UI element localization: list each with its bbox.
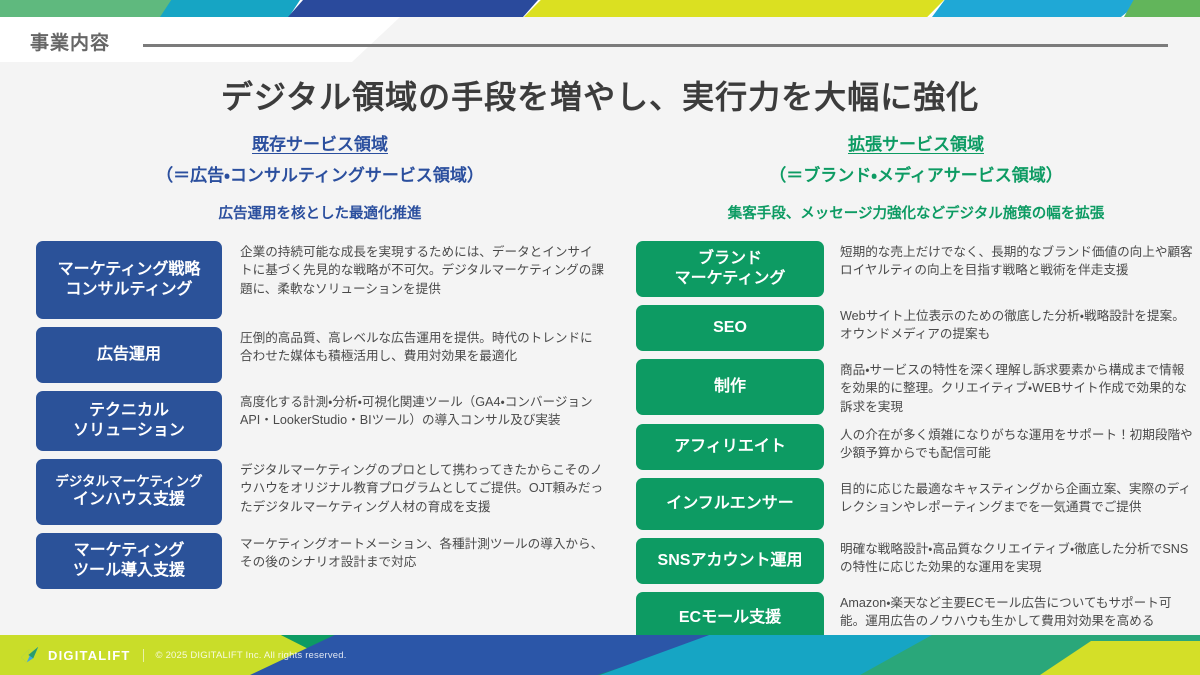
service-row[interactable]: アフィリエイト人の介在が多く煩雑になりがちな運用をサポート！初期段階や少額予算か… bbox=[636, 424, 1196, 470]
column-tagline: 集客手段、メッセージ力強化などデジタル施策の幅を拡張 bbox=[636, 202, 1196, 223]
slide-root: 事業内容 デジタル領域の手段を増やし、実行力を大幅に強化 既存サービス領域 （＝… bbox=[0, 0, 1200, 675]
service-description: マーケティングオートメーション、各種計測ツールの導入から、その後のシナリオ設計ま… bbox=[222, 533, 604, 572]
service-chip-label: 広告運用 bbox=[97, 345, 161, 365]
header-rule bbox=[143, 44, 1168, 47]
service-chip-label: コンサルティング bbox=[65, 280, 192, 300]
service-chip-label: ブランド bbox=[698, 249, 762, 269]
footer-bar: DIGITALIFT © 2025 DIGITALIFT Inc. All ri… bbox=[0, 635, 1200, 675]
page-title: デジタル領域の手段を増やし、実行力を大幅に強化 bbox=[0, 72, 1200, 118]
service-chip-label: ツール導入支援 bbox=[73, 561, 185, 581]
service-chip[interactable]: 広告運用 bbox=[36, 327, 222, 383]
service-chip-label: インハウス支援 bbox=[73, 490, 185, 510]
service-chip-label: マーケティング戦略 bbox=[58, 260, 201, 280]
service-chip[interactable]: テクニカルソリューション bbox=[36, 391, 222, 451]
service-chip-label: ECモール支援 bbox=[679, 608, 781, 628]
copyright-text: © 2025 DIGITALIFT Inc. All rights reserv… bbox=[156, 650, 347, 661]
band-segment-blue bbox=[288, 0, 538, 17]
service-list-expanded: ブランドマーケティング短期的な売上だけでなく、長期的なブランド価値の向上や顧客ロ… bbox=[636, 241, 1196, 644]
service-description: Webサイト上位表示のための徹底した分析・戦略設計を提案。オウンドメディアの提案… bbox=[824, 305, 1196, 344]
band-segment-cyan bbox=[160, 0, 300, 17]
top-decorative-band bbox=[0, 0, 1200, 17]
service-chip-label: ソリューション bbox=[73, 421, 185, 441]
service-description: 人の介在が多く煩雑になりがちな運用をサポート！初期段階や少額予算からでも配信可能 bbox=[824, 424, 1196, 463]
column-heading-block: 既存サービス領域 （＝広告・コンサルティングサービス領域） bbox=[36, 130, 604, 186]
service-chip[interactable]: インフルエンサー bbox=[636, 478, 824, 530]
service-chip-label: テクニカル bbox=[89, 401, 169, 421]
service-description: 目的に応じた最適なキャスティングから企画立案、実際のディレクションやレポーティン… bbox=[824, 478, 1196, 517]
column-tagline: 広告運用を核とした最適化推進 bbox=[36, 202, 604, 223]
service-description: 商品・サービスの特性を深く理解し訴求要素から構成まで情報を効果的に整理。クリエイ… bbox=[824, 359, 1196, 416]
column-heading: 拡張サービス領域 bbox=[848, 130, 984, 155]
service-row[interactable]: マーケティング戦略コンサルティング企業の持続可能な成長を実現するためには、データ… bbox=[36, 241, 604, 319]
service-chip[interactable]: デジタルマーケティングインハウス支援 bbox=[36, 459, 222, 525]
column-subheading: （＝広告・コンサルティングサービス領域） bbox=[36, 161, 604, 186]
service-chip-label: SEO bbox=[713, 318, 747, 338]
service-row[interactable]: マーケティングツール導入支援マーケティングオートメーション、各種計測ツールの導入… bbox=[36, 533, 604, 589]
service-description: Amazon・楽天など主要ECモール広告についてもサポート可能。運用広告のノウハ… bbox=[824, 592, 1196, 631]
service-row[interactable]: テクニカルソリューション高度化する計測・分析・可視化関連ツール（GA4・コンバー… bbox=[36, 391, 604, 451]
footer-brand: DIGITALIFT © 2025 DIGITALIFT Inc. All ri… bbox=[20, 646, 347, 664]
service-chip[interactable]: ブランドマーケティング bbox=[636, 241, 824, 297]
service-chip-label: SNSアカウント運用 bbox=[658, 551, 803, 571]
band-segment-green-right bbox=[1124, 0, 1200, 17]
service-chip[interactable]: SNSアカウント運用 bbox=[636, 538, 824, 584]
service-chip-label: アフィリエイト bbox=[674, 437, 786, 457]
service-row[interactable]: ブランドマーケティング短期的な売上だけでなく、長期的なブランド価値の向上や顧客ロ… bbox=[636, 241, 1196, 297]
service-row[interactable]: インフルエンサー目的に応じた最適なキャスティングから企画立案、実際のディレクショ… bbox=[636, 478, 1196, 530]
service-description: 企業の持続可能な成長を実現するためには、データとインサイトに基づく先見的な戦略が… bbox=[222, 241, 604, 298]
service-chip-label: インフルエンサー bbox=[666, 494, 794, 514]
column-expanded-services: 拡張サービス領域 （＝ブランド・メディアサービス領域） 集客手段、メッセージ力強… bbox=[636, 130, 1196, 652]
bird-logo-icon bbox=[20, 646, 40, 664]
service-description: 圧倒的高品質、高レベルな広告運用を提供。時代のトレンドに合わせた媒体も積極活用し… bbox=[222, 327, 604, 366]
service-chip[interactable]: アフィリエイト bbox=[636, 424, 824, 470]
service-list-existing: マーケティング戦略コンサルティング企業の持続可能な成長を実現するためには、データ… bbox=[36, 241, 604, 589]
service-chip-label: マーケティング bbox=[675, 269, 786, 289]
service-chip[interactable]: マーケティング戦略コンサルティング bbox=[36, 241, 222, 319]
service-row[interactable]: SEOWebサイト上位表示のための徹底した分析・戦略設計を提案。オウンドメディア… bbox=[636, 305, 1196, 351]
service-chip-label: デジタルマーケティング bbox=[55, 474, 202, 490]
column-subheading: （＝ブランド・メディアサービス領域） bbox=[636, 161, 1196, 186]
column-heading: 既存サービス領域 bbox=[252, 130, 388, 155]
service-chip-label: 制作 bbox=[714, 377, 746, 397]
service-chip[interactable]: SEO bbox=[636, 305, 824, 351]
service-row[interactable]: 制作商品・サービスの特性を深く理解し訴求要素から構成まで情報を効果的に整理。クリ… bbox=[636, 359, 1196, 416]
section-tag-label: 事業内容 bbox=[30, 28, 110, 55]
column-heading-block: 拡張サービス領域 （＝ブランド・メディアサービス領域） bbox=[636, 130, 1196, 186]
column-existing-services: 既存サービス領域 （＝広告・コンサルティングサービス領域） 広告運用を核とした最… bbox=[36, 130, 604, 597]
band-segment-green bbox=[0, 0, 175, 17]
service-description: 高度化する計測・分析・可視化関連ツール（GA4・コンバージョンAPI・Looke… bbox=[222, 391, 604, 430]
service-chip[interactable]: 制作 bbox=[636, 359, 824, 415]
service-description: 明確な戦略設計・高品質なクリエイティブ・徹底した分析でSNSの特性に応じた効果的… bbox=[824, 538, 1196, 577]
service-row[interactable]: SNSアカウント運用明確な戦略設計・高品質なクリエイティブ・徹底した分析でSNS… bbox=[636, 538, 1196, 584]
service-row[interactable]: 広告運用圧倒的高品質、高レベルな広告運用を提供。時代のトレンドに合わせた媒体も積… bbox=[36, 327, 604, 383]
band-segment-skyblue bbox=[932, 0, 1142, 17]
brand-name: DIGITALIFT bbox=[48, 648, 131, 663]
service-row[interactable]: デジタルマーケティングインハウス支援デジタルマーケティングのプロとして携わってき… bbox=[36, 459, 604, 525]
service-description: 短期的な売上だけでなく、長期的なブランド価値の向上や顧客ロイヤルティの向上を目指… bbox=[824, 241, 1196, 280]
footer-divider bbox=[143, 649, 144, 662]
band-segment-lime bbox=[524, 0, 944, 17]
service-chip[interactable]: マーケティングツール導入支援 bbox=[36, 533, 222, 589]
service-description: デジタルマーケティングのプロとして携わってきたからこそのノウハウをオリジナル教育… bbox=[222, 459, 604, 516]
service-chip-label: マーケティング bbox=[74, 541, 185, 561]
